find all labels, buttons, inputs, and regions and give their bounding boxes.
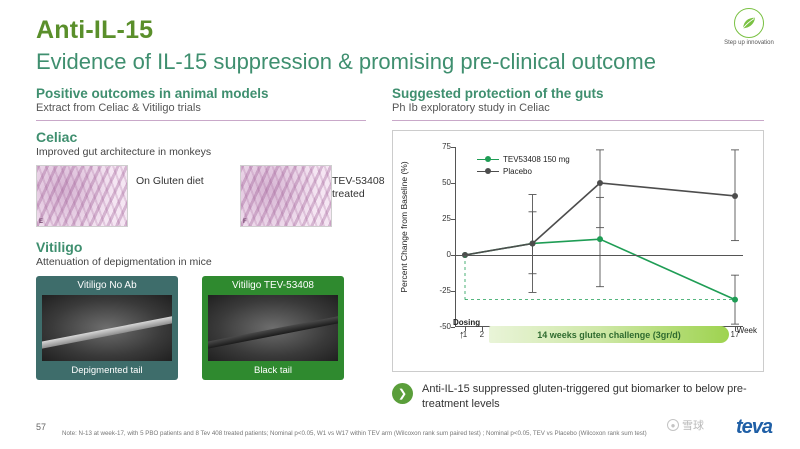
chart-series-svg (455, 147, 743, 327)
chart-y-tick: 25 (425, 214, 451, 223)
chart-x-axis-label: Week (737, 326, 757, 335)
vitiligo-panel-control-caption: Depigmented tail (36, 361, 178, 380)
chart-y-tickmark (451, 147, 455, 148)
chart-panel: Percent Change from Baseline (%) Week TE… (392, 130, 764, 372)
vitiligo-panel-control-title: Vitiligo No Ab (36, 276, 178, 295)
chart-y-tick: -50 (425, 322, 451, 331)
watermark: ● 雪球 (667, 417, 704, 433)
chart-y-tickmark (451, 291, 455, 292)
chart-x-tick: 2 (480, 330, 484, 339)
conclusion-text: Anti-IL-15 suppressed gluten-triggered g… (422, 382, 772, 412)
teva-leaf-icon (734, 8, 764, 38)
chart-y-tick: 50 (425, 178, 451, 187)
right-divider (392, 120, 764, 121)
left-section-title: Positive outcomes in animal models (36, 86, 376, 101)
chevron-right-icon: ❯ (392, 383, 413, 404)
slide: Anti-IL-15 Evidence of IL-15 suppression… (0, 0, 800, 449)
chart-x-tickmark (482, 327, 483, 331)
histology-image-b: F (240, 165, 332, 227)
vitiligo-panel-treated: Vitiligo TEV-53408 Black tail (202, 276, 344, 380)
vitiligo-panel-control: Vitiligo No Ab Depigmented tail (36, 276, 178, 380)
watermark-icon: ● (667, 419, 679, 431)
chart-y-tick: -25 (425, 286, 451, 295)
gluten-challenge-bar: 14 weeks gluten challenge (3gr/d) (489, 326, 729, 343)
chart-y-tickmark (451, 327, 455, 328)
histology-tag-b: F (243, 219, 247, 225)
chart-y-axis-label: Percent Change from Baseline (%) (399, 161, 409, 292)
chart-y-tick: 75 (425, 142, 451, 151)
chart-y-tickmark (451, 219, 455, 220)
celiac-note: Improved gut architecture in monkeys (36, 146, 376, 158)
vitiligo-image-control (42, 295, 172, 361)
conclusion-block: ❯ Anti-IL-15 suppressed gluten-triggered… (392, 382, 772, 412)
page-subtitle: Evidence of IL-15 suppression & promisin… (36, 49, 656, 75)
right-section-title: Suggested protection of the guts (392, 86, 764, 101)
dosing-label: Dosing (453, 318, 480, 327)
left-column: Positive outcomes in animal models Extra… (36, 86, 376, 382)
dosing-arrow-icon: ↑ (459, 330, 465, 341)
vitiligo-panel-treated-title: Vitiligo TEV-53408 (202, 276, 344, 295)
vitiligo-panel-treated-caption: Black tail (202, 361, 344, 380)
vitiligo-panels: Vitiligo No Ab Depigmented tail Vitiligo… (36, 276, 376, 382)
chart-x-tickmark (465, 327, 466, 331)
chart-plot-area: -50-2502550751235791113151617 (455, 147, 743, 327)
chart-zero-line (455, 255, 743, 256)
teva-logo: teva (736, 416, 772, 439)
histology-tag-a: E (39, 219, 43, 225)
chart-x-tickmark (735, 327, 736, 331)
celiac-heading: Celiac (36, 129, 376, 145)
chart-y-tickmark (451, 183, 455, 184)
watermark-text: 雪球 (682, 417, 704, 433)
footnote: Note: N-13 at week-17, with 5 PBO patien… (62, 430, 662, 439)
left-divider (36, 120, 366, 121)
logo-caption: Step up innovation (712, 40, 786, 48)
histology-label-a: On Gluten diet (136, 175, 226, 188)
page-title: Anti-IL-15 (36, 16, 153, 45)
right-column: Suggested protection of the guts Ph Ib e… (392, 86, 764, 121)
chart-y-tick: 0 (425, 250, 451, 259)
page-number: 57 (36, 422, 46, 432)
left-section-subtitle: Extract from Celiac & Vitiligo trials (36, 102, 376, 114)
histology-image-a: E (36, 165, 128, 227)
vitiligo-image-treated (208, 295, 338, 361)
celiac-histology-row: E On Gluten diet F TEV-53408 treated (36, 165, 376, 231)
right-section-subtitle: Ph Ib exploratory study in Celiac (392, 102, 764, 114)
vitiligo-note: Attenuation of depigmentation in mice (36, 256, 376, 268)
chart-x-tick: 17 (731, 330, 740, 339)
vitiligo-heading: Vitiligo (36, 239, 376, 255)
